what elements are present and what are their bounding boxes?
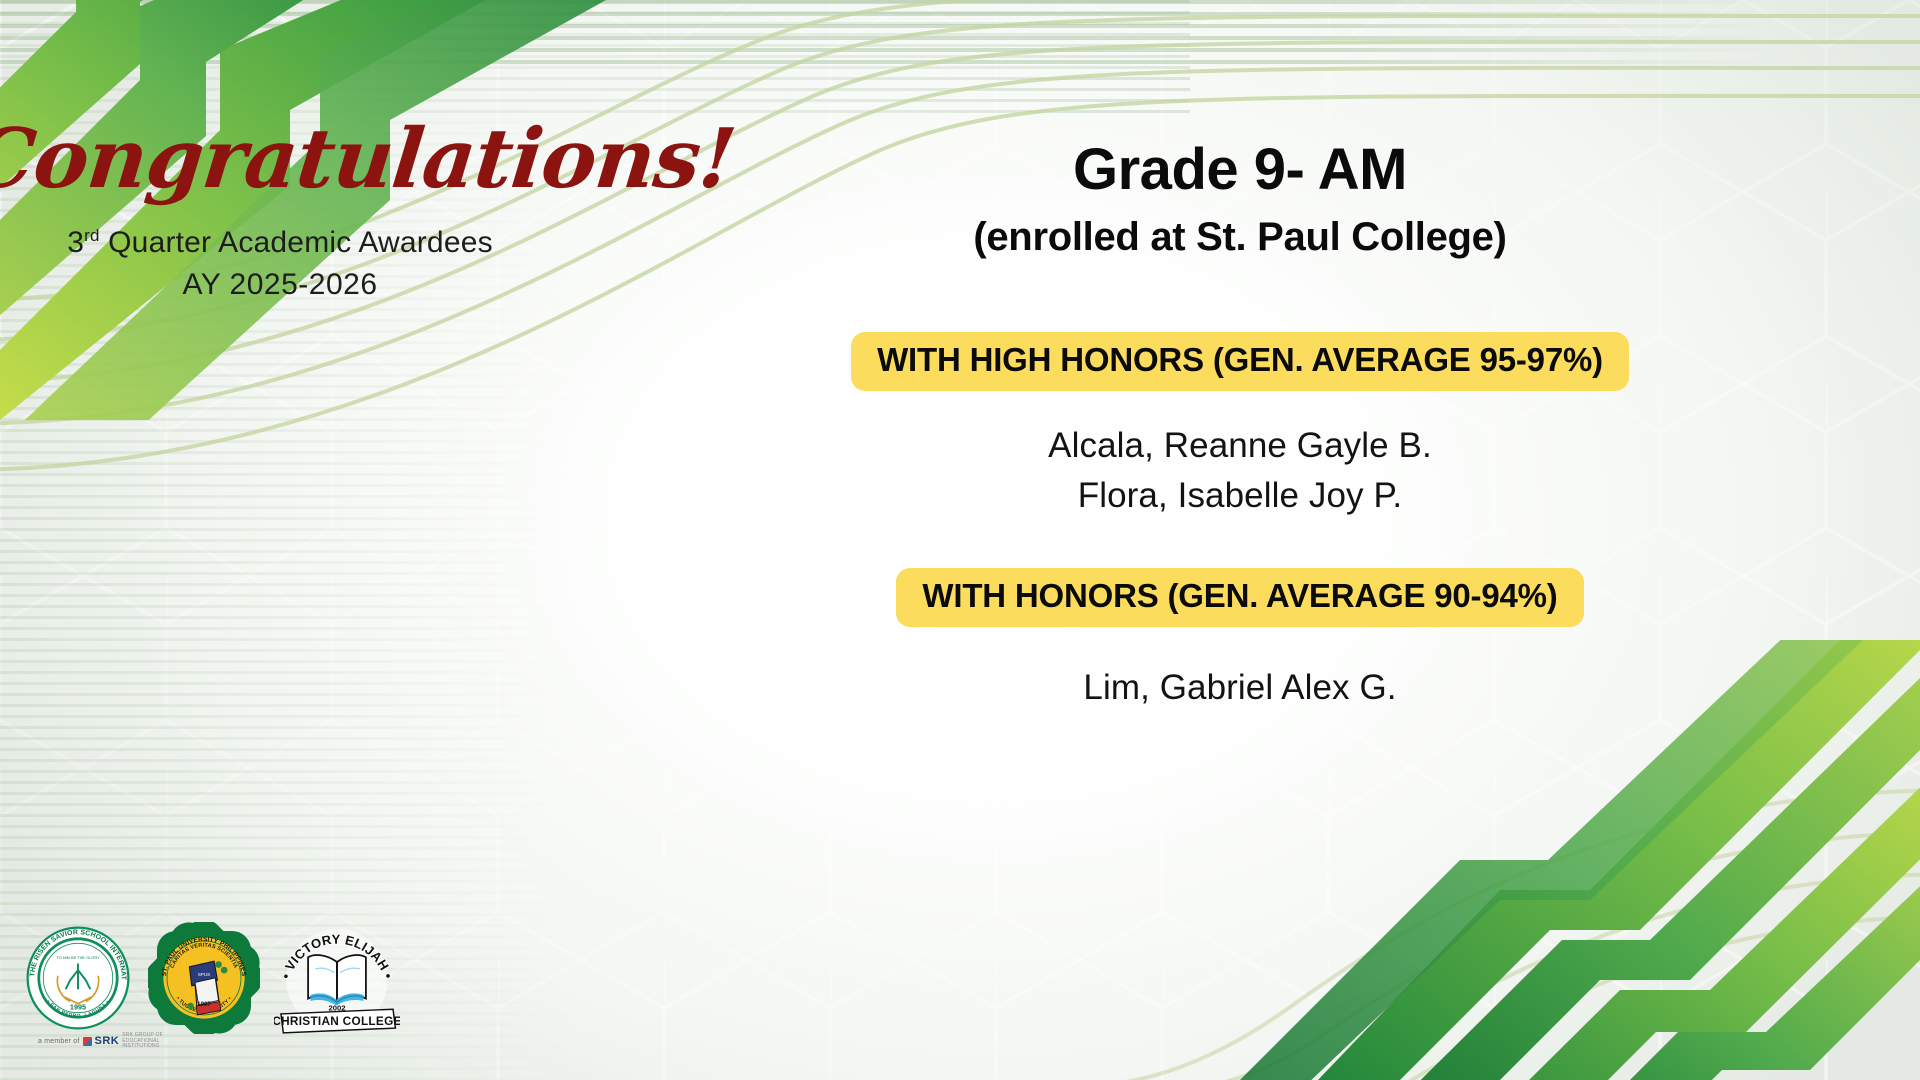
- srk-tagline: SRK GROUP OF EDUCATIONAL INSTITUTIONS: [122, 1033, 176, 1050]
- svg-text:TO HIM BE THE GLORY: TO HIM BE THE GLORY: [56, 955, 100, 960]
- honor-band-high-honors: WITH HIGH HONORS (GEN. AVERAGE 95-97%): [851, 332, 1629, 391]
- awardee-name: Alcala, Reanne Gayle B.: [1048, 421, 1432, 471]
- svg-text:CHRISTIAN COLLEGE: CHRISTIAN COLLEGE: [274, 1015, 400, 1028]
- member-of-label: a member of: [38, 1038, 80, 1045]
- honor-band-wrapper-honors: WITH HONORS (GEN. AVERAGE 90-94%): [560, 568, 1920, 627]
- svg-text:1995: 1995: [70, 1002, 86, 1011]
- grade-subtitle: (enrolled at St. Paul College): [973, 215, 1506, 260]
- logo-st-paul-university-philippines: ST. PAUL UNIVERSITY PHILIPPINES CARITAS …: [148, 922, 260, 1034]
- svg-text:1907: 1907: [197, 1001, 211, 1008]
- srk-member-footer: a member of SRK SRK GROUP OF EDUCATIONAL…: [38, 1033, 176, 1050]
- svg-text:SPUS: SPUS: [198, 972, 210, 977]
- grade-title: Grade 9- AM: [1073, 140, 1407, 201]
- quarter-subtitle-text: Quarter Academic Awardees: [100, 226, 493, 259]
- congratulations-block: Congratulations! 3rd Quarter Academic Aw…: [0, 118, 560, 302]
- awardee-list-honors: Lim, Gabriel Alex G.: [1083, 663, 1396, 713]
- honor-band-wrapper-high-honors: WITH HIGH HONORS (GEN. AVERAGE 95-97%): [560, 332, 1920, 391]
- quarter-number: 3: [67, 226, 84, 259]
- srk-brand-name: SRK: [95, 1035, 120, 1047]
- awardee-main-column: Grade 9- AM (enrolled at St. Paul Colleg…: [560, 0, 1920, 1080]
- quarter-ordinal-suffix: rd: [84, 226, 100, 245]
- awardee-slide: Congratulations! 3rd Quarter Academic Aw…: [0, 0, 1920, 1080]
- awardee-list-high-honors: Alcala, Reanne Gayle B. Flora, Isabelle …: [1048, 421, 1432, 520]
- academic-year-text: AY 2025-2026: [0, 268, 560, 302]
- congratulations-heading: Congratulations!: [0, 118, 564, 200]
- honor-band-honors: WITH HONORS (GEN. AVERAGE 90-94%): [896, 568, 1583, 627]
- awardee-name: Flora, Isabelle Joy P.: [1048, 471, 1432, 521]
- quarter-subtitle: 3rd Quarter Academic Awardees: [0, 226, 560, 260]
- logo-victory-elijah-christian-college: • VICTORY ELIJAH • 2002 CHRISTIAN COLLEG…: [274, 916, 400, 1034]
- srk-logo-icon: [83, 1037, 92, 1046]
- partner-logos-row: JESUS THE RISEN SAVIOR SCHOOL INTERNATIO…: [22, 916, 400, 1034]
- logo-jesus-the-risen-savior-school-international: JESUS THE RISEN SAVIOR SCHOOL INTERNATIO…: [22, 922, 134, 1034]
- awardee-name: Lim, Gabriel Alex G.: [1083, 663, 1396, 713]
